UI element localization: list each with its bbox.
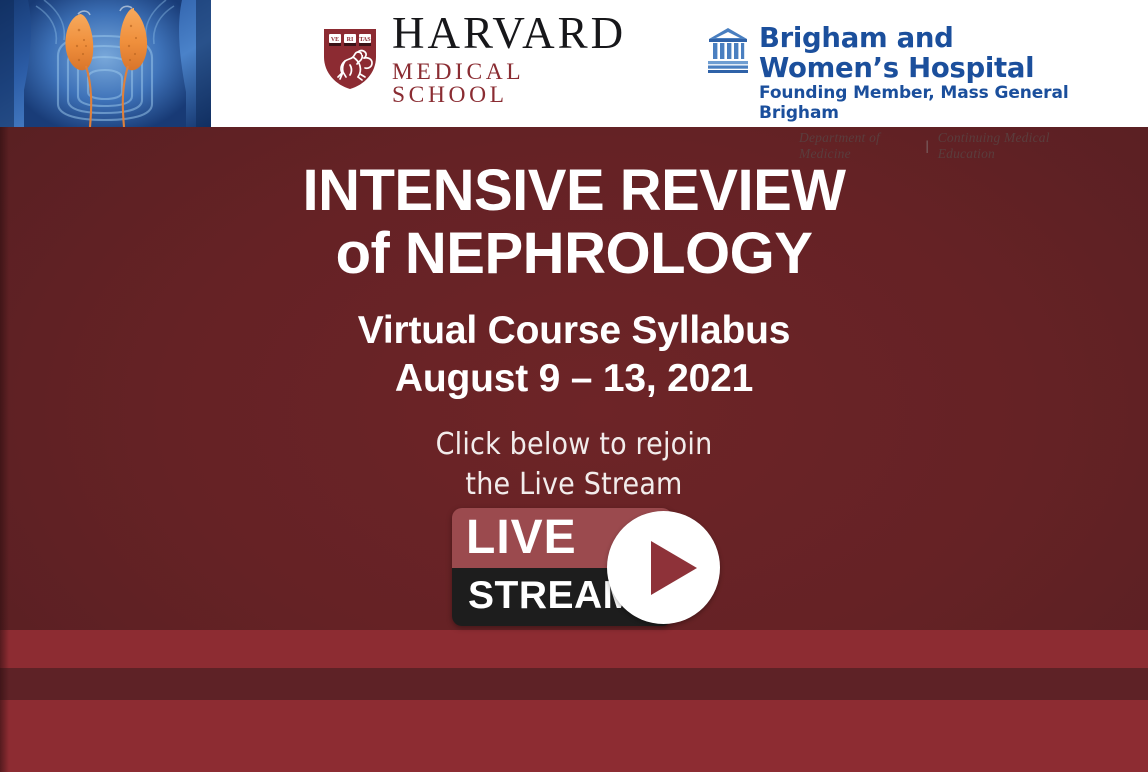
footer-band-dark: [0, 668, 1148, 700]
svg-text:TAS: TAS: [359, 37, 371, 43]
footer-band-upper: [0, 630, 1148, 668]
call-to-action-line-2: the Live Stream: [0, 465, 1148, 505]
header-bar: VE RI TAS: [0, 0, 1148, 127]
harvard-wordmark: HARVARD MEDICAL SCHOOL: [392, 11, 626, 108]
course-title-subject: NEPHROLOGY: [405, 221, 813, 286]
brigham-cme-label: Continuing Medical Education: [938, 130, 1087, 162]
course-subtitle: Virtual Course Syllabus August 9 – 13, 2…: [0, 307, 1148, 402]
course-title-line-1: INTENSIVE REVIEW: [0, 160, 1148, 223]
harvard-medical-school-logo: VE RI TAS: [322, 20, 622, 98]
brigham-separator: |: [926, 138, 929, 154]
course-subtitle-line-1: Virtual Course Syllabus: [0, 307, 1148, 355]
course-title-of-word: of: [336, 221, 405, 286]
brigham-wordmark: Brigham and Women’s Hospital Founding Me…: [759, 24, 1087, 162]
svg-text:VE: VE: [331, 37, 339, 43]
kidney-anatomy-illustration: [0, 0, 211, 127]
play-triangle-icon: [651, 541, 697, 595]
course-subtitle-dates: August 9 – 13, 2021: [0, 355, 1148, 403]
footer-band-lower: [0, 700, 1148, 772]
call-to-action-text: Click below to rejoin the Live Stream: [0, 425, 1148, 505]
brigham-wordmark-line-1: Brigham and Women’s Hospital: [759, 24, 1087, 83]
play-button-circle[interactable]: [607, 511, 720, 624]
harvard-wordmark-line-1: HARVARD: [392, 11, 626, 56]
live-stream-button[interactable]: LIVE STREAM: [452, 508, 724, 626]
harvard-veritas-shield-icon: VE RI TAS: [322, 27, 378, 91]
harvard-wordmark-line-2: MEDICAL SCHOOL: [392, 61, 626, 108]
svg-text:RI: RI: [347, 37, 354, 43]
call-to-action-line-1: Click below to rejoin: [0, 425, 1148, 465]
brigham-womens-hospital-logo: Brigham and Women’s Hospital Founding Me…: [707, 24, 1087, 96]
course-title-line-2: of NEPHROLOGY: [0, 223, 1148, 286]
course-syllabus-slide: VE RI TAS: [0, 0, 1148, 772]
brigham-wordmark-line-2: Founding Member, Mass General Brigham: [759, 84, 1087, 123]
course-title: INTENSIVE REVIEW of NEPHROLOGY: [0, 160, 1148, 285]
hospital-building-icon: [707, 27, 749, 73]
